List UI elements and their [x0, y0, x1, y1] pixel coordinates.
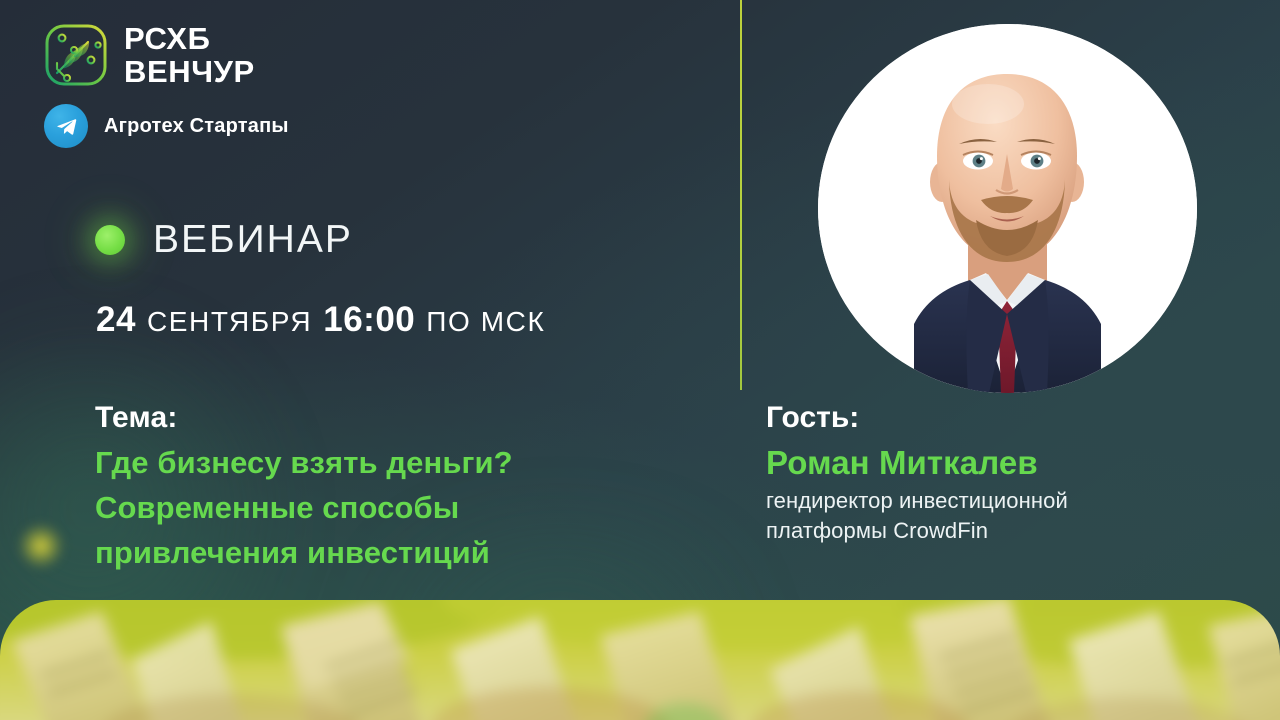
- brand-wordmark: РСХБ ВЕНЧУР: [124, 22, 255, 88]
- topic-line-1: Где бизнесу взять деньги?: [95, 440, 715, 485]
- guest-name: Роман Миткалев: [766, 440, 1236, 486]
- topic-line-3: привлечения инвестиций: [95, 530, 715, 575]
- brand-wordmark-line1: РСХБ: [124, 22, 255, 55]
- topic-label: Тема:: [95, 396, 715, 440]
- guest-block: Гость: Роман Миткалев гендиректор инвест…: [766, 396, 1236, 546]
- rshb-venture-logo-icon: [44, 23, 108, 87]
- guest-role-line-2: платформы CrowdFin: [766, 516, 1236, 546]
- vertical-accent-divider: [740, 0, 742, 390]
- blurred-banknotes-image: [0, 600, 1280, 720]
- brand-wordmark-line2: ВЕНЧУР: [124, 55, 255, 88]
- event-datetime: 24 СЕНТЯБРЯ 16:00 ПО МСК: [96, 300, 545, 340]
- event-timezone: ПО МСК: [426, 306, 545, 338]
- guest-role-line-1: гендиректор инвестиционной: [766, 486, 1236, 516]
- background-bokeh-yellow: [18, 523, 64, 569]
- topic-line-2: Современные способы: [95, 485, 715, 530]
- event-date-month: СЕНТЯБРЯ: [147, 306, 312, 338]
- brand-lockup: РСХБ ВЕНЧУР: [44, 22, 255, 88]
- guest-label: Гость:: [766, 396, 1236, 440]
- webinar-badge: ВЕБИНАР: [95, 218, 353, 262]
- guest-avatar: [818, 24, 1197, 393]
- topic-block: Тема: Где бизнесу взять деньги? Современ…: [95, 396, 715, 575]
- green-live-dot-icon: [95, 225, 125, 255]
- event-time: 16:00: [323, 300, 415, 340]
- telegram-channel-label: Агротех Стартапы: [104, 115, 289, 138]
- webinar-poster: РСХБ ВЕНЧУР Агротех Стартапы ВЕБИНАР 24 …: [0, 0, 1280, 720]
- event-date-day: 24: [96, 300, 136, 340]
- telegram-channel-row[interactable]: Агротех Стартапы: [44, 104, 289, 148]
- telegram-icon[interactable]: [44, 104, 88, 148]
- event-kind-label: ВЕБИНАР: [153, 218, 353, 262]
- money-strip: [0, 600, 1280, 720]
